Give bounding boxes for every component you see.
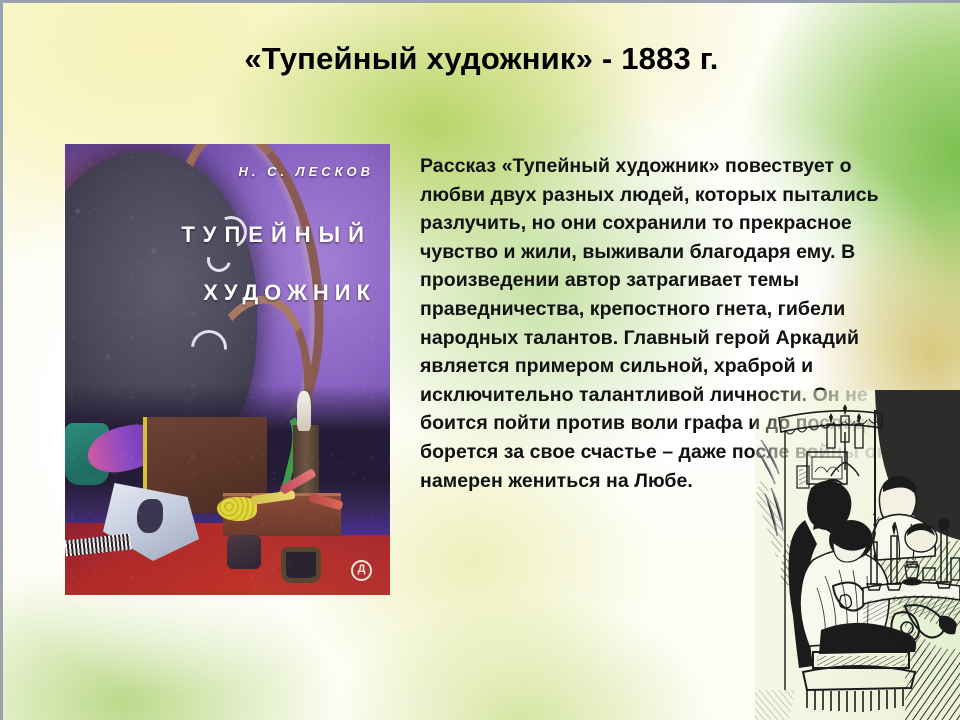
book-cover-author: Н. С. ЛЕСКОВ xyxy=(238,164,374,179)
book-cover-grain xyxy=(65,144,390,595)
book-cover-title-line2: ХУДОЖНИК xyxy=(203,280,376,306)
slide-title: «Тупейный художник» - 1883 г. xyxy=(3,41,960,77)
engraving-illustration xyxy=(755,390,960,720)
presentation-slide: «Тупейный художник» - 1883 г. xyxy=(0,0,960,720)
book-cover-title-line1: ТУПЕЙНЫЙ xyxy=(181,222,372,248)
book-cover-image: Д Н. С. ЛЕСКОВ ТУПЕЙНЫЙ ХУДОЖНИК xyxy=(65,144,390,595)
